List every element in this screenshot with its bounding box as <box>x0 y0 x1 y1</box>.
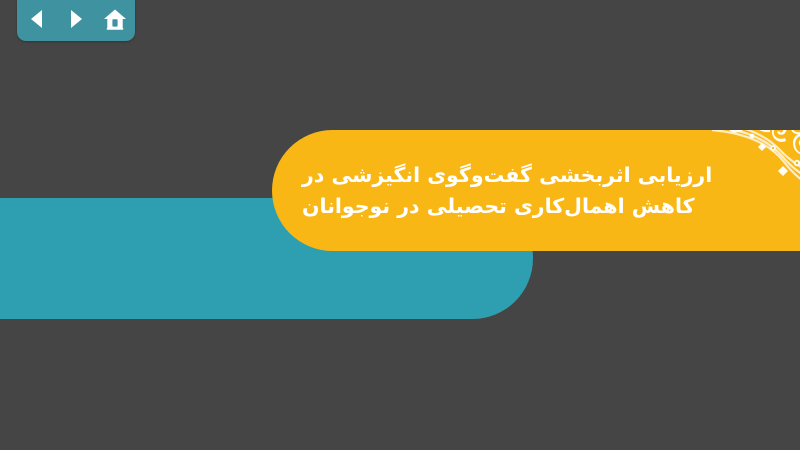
presentation-slide: ارزیابی اثربخشی گفت‌وگوی انگیزشی در کاهش… <box>0 0 800 450</box>
triangle-right-icon <box>67 9 85 29</box>
slide-title: ارزیابی اثربخشی گفت‌وگوی انگیزشی در کاهش… <box>302 130 800 251</box>
title-banner: ارزیابی اثربخشی گفت‌وگوی انگیزشی در کاهش… <box>272 130 800 251</box>
home-icon <box>103 8 127 31</box>
slide-title-line-2: کاهش اهمال‌کاری تحصیلی در نوجوانان <box>302 191 695 222</box>
triangle-left-icon <box>28 9 46 29</box>
presentation-navigation-toolbar[interactable] <box>17 0 135 41</box>
previous-slide-button[interactable] <box>22 4 52 34</box>
home-slide-button[interactable] <box>100 4 130 34</box>
slide-title-line-1: ارزیابی اثربخشی گفت‌وگوی انگیزشی در <box>302 160 712 191</box>
next-slide-button[interactable] <box>61 4 91 34</box>
